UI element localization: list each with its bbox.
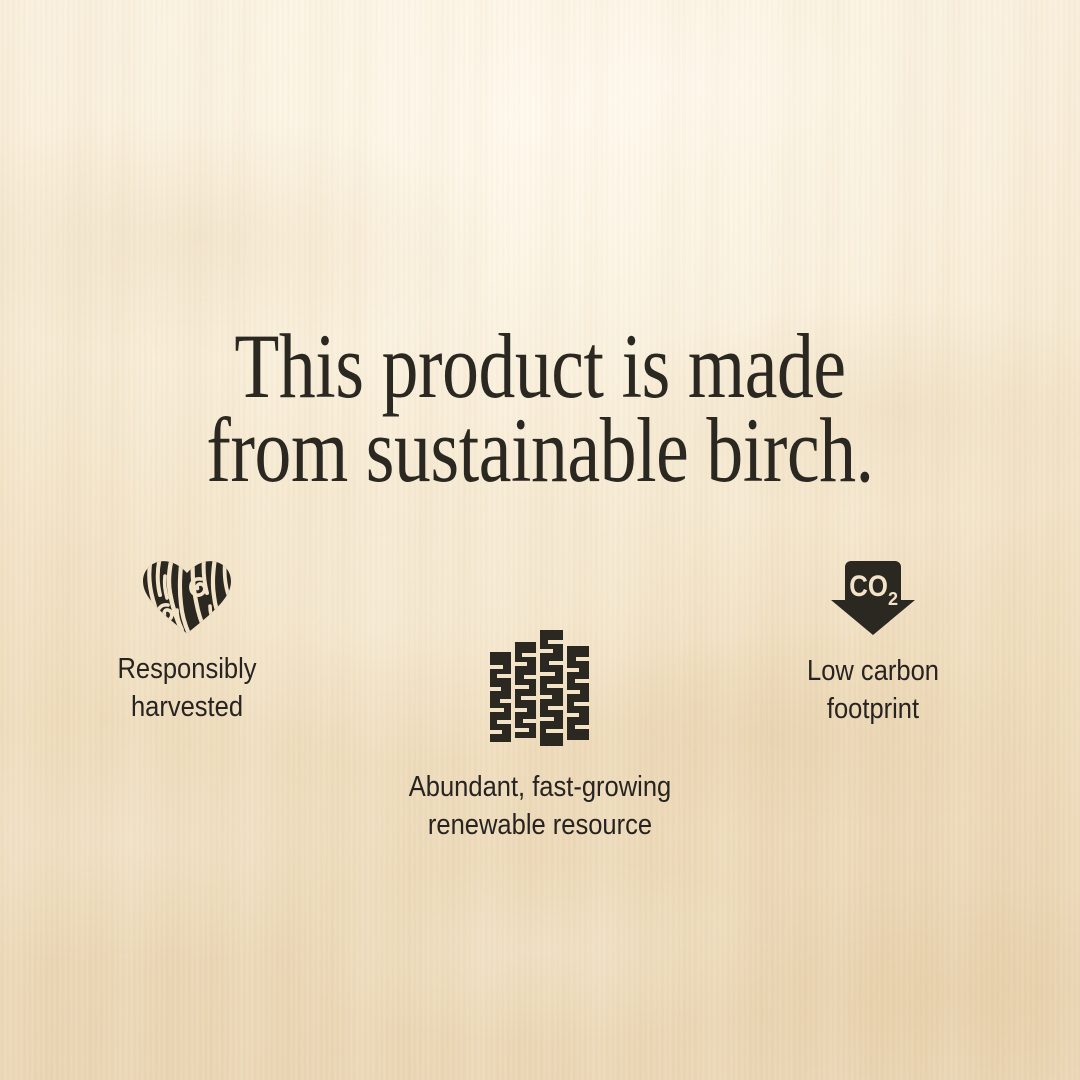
feature-caption: Responsibly harvested <box>81 650 292 726</box>
feature-low-carbon-footprint: CO 2 Low carbon footprint <box>753 556 993 728</box>
wood-grain-heart-icon <box>141 560 233 634</box>
co2-subscript: 2 <box>888 589 898 609</box>
page-title: This product is made from sustainable bi… <box>108 324 972 492</box>
feature-icon-slot: CO 2 <box>753 556 993 636</box>
headline-line-2: from sustainable birch. <box>108 408 972 492</box>
feature-caption: Low carbon footprint <box>767 652 978 728</box>
headline-line-1: This product is made <box>108 324 972 408</box>
feature-icon-slot <box>67 556 307 634</box>
feature-icon-slot <box>420 628 660 746</box>
feature-renewable-resource: Abundant, fast-growing renewable resourc… <box>420 628 660 844</box>
sustainable-birch-poster: This product is made from sustainable bi… <box>0 0 1080 1080</box>
poster-content: This product is made from sustainable bi… <box>0 0 1080 1080</box>
feature-responsibly-harvested: Responsibly harvested <box>67 556 307 726</box>
birch-trunks-icon <box>488 628 592 746</box>
feature-caption: Abundant, fast-growing renewable resourc… <box>355 768 725 844</box>
co2-label: CO <box>849 569 888 602</box>
co2-down-arrow-icon: CO 2 <box>829 556 917 636</box>
